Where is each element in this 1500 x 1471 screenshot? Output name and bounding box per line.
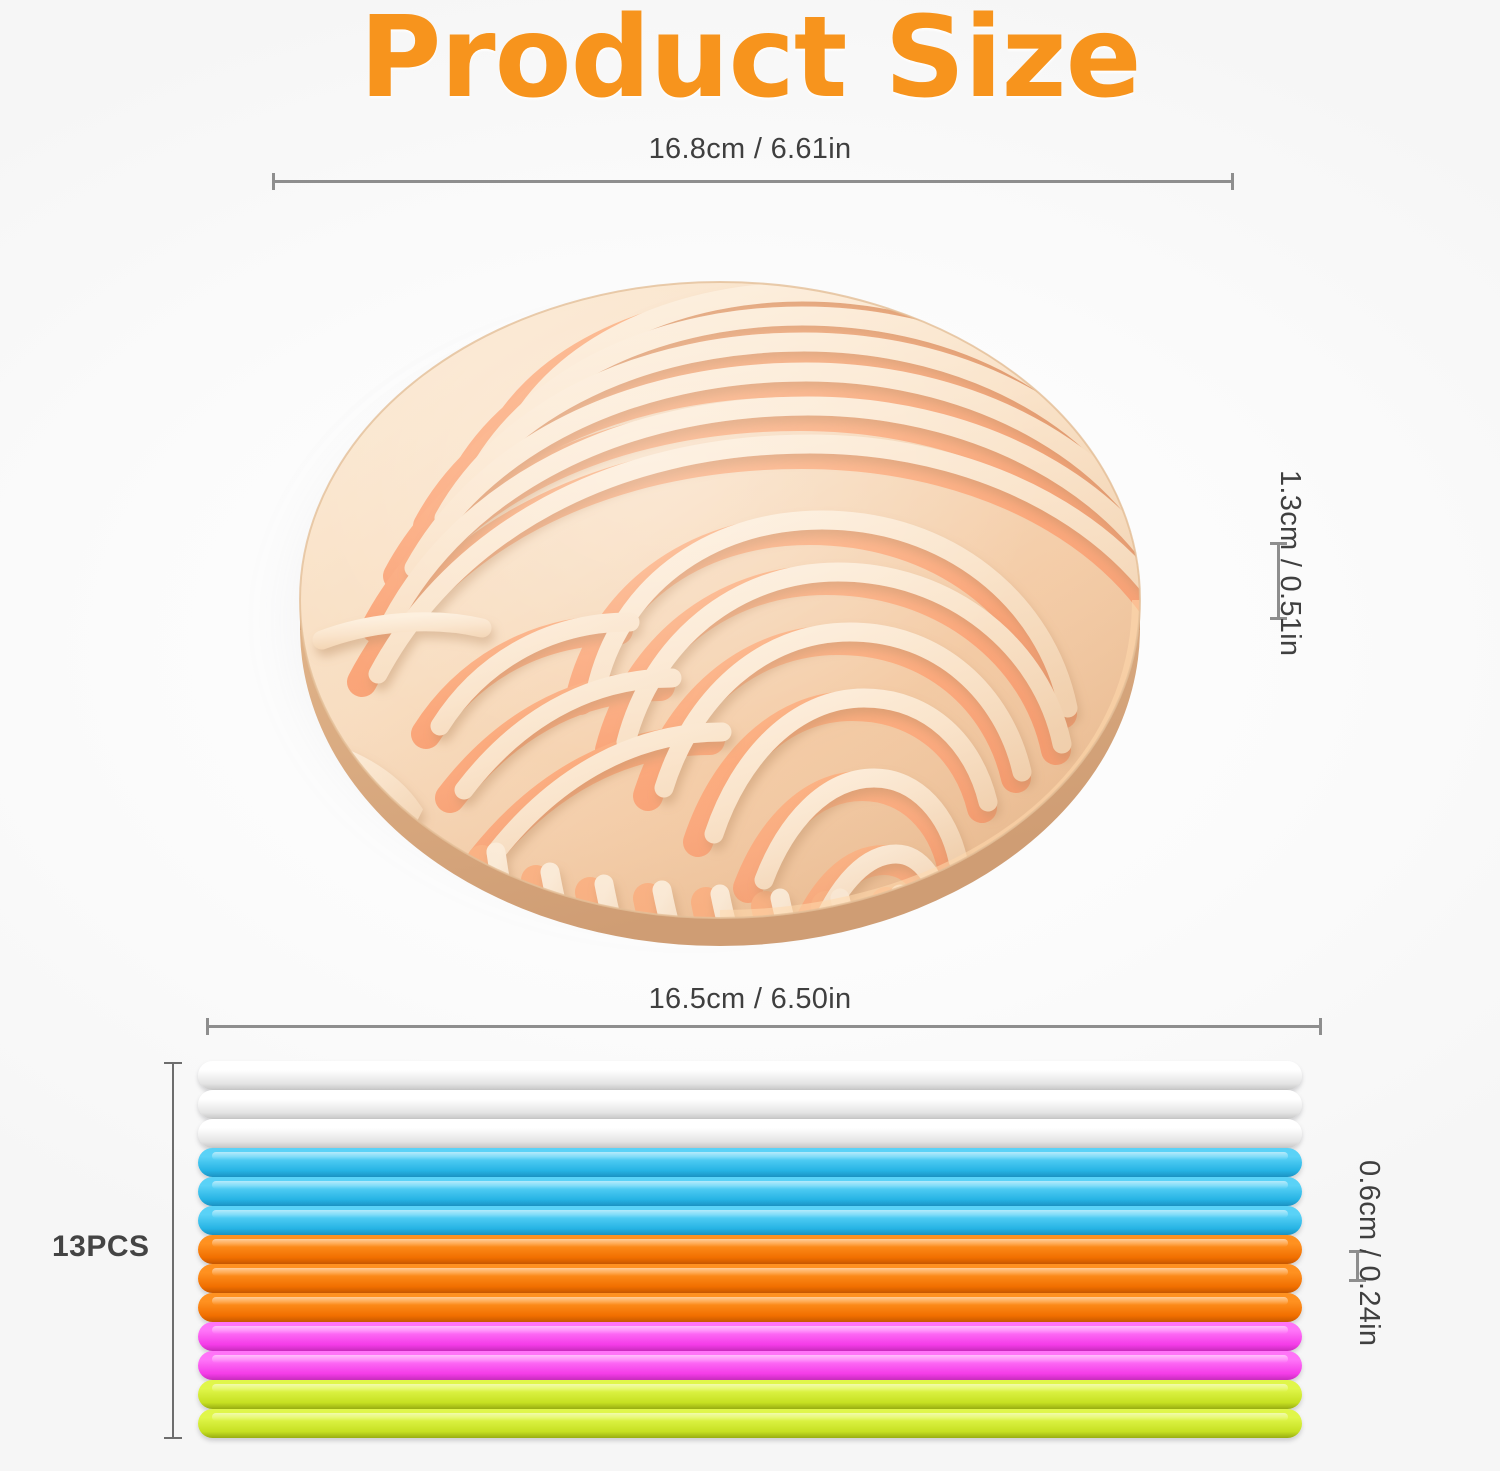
quantity-label: 13PCS	[52, 1230, 150, 1264]
stick-highlight	[212, 1297, 1288, 1305]
stick-white-3	[198, 1119, 1302, 1148]
stick-highlight	[212, 1123, 1288, 1131]
disc-width-dimension-label: 16.8cm / 6.61in	[0, 133, 1500, 166]
stick-highlight	[212, 1152, 1288, 1160]
stick-blue-4	[198, 1148, 1302, 1177]
disc-width-dimension-line	[272, 180, 1234, 183]
stick-magenta-11	[198, 1351, 1302, 1380]
stick-highlight	[212, 1384, 1288, 1392]
stick-blue-6	[198, 1206, 1302, 1235]
stick-orange-8	[198, 1264, 1302, 1293]
page-title: Product Size	[0, 0, 1500, 118]
stick-highlight	[212, 1355, 1288, 1363]
stick-blue-5	[198, 1177, 1302, 1206]
stick-highlight	[212, 1268, 1288, 1276]
stick-highlight	[212, 1326, 1288, 1334]
stick-length-dimension-label: 16.5cm / 6.50in	[0, 983, 1500, 1016]
fingerprint-maze-disc-graphic	[250, 230, 1250, 970]
stick-highlight	[212, 1094, 1288, 1102]
stick-yellow-green-13	[198, 1409, 1302, 1438]
stick-thickness-dimension-label: 0.6cm / 0.24in	[1352, 1160, 1385, 1346]
stick-highlight	[212, 1210, 1288, 1218]
stick-length-dimension-line	[206, 1025, 1322, 1028]
stick-highlight	[212, 1065, 1288, 1073]
quantity-bracket-line	[172, 1062, 174, 1439]
maze-disc	[250, 230, 1250, 970]
stick-yellow-green-12	[198, 1380, 1302, 1409]
stick-white-2	[198, 1090, 1302, 1119]
stick-highlight	[212, 1413, 1288, 1421]
stick-magenta-10	[198, 1322, 1302, 1351]
silicone-stick-stack	[198, 1061, 1302, 1439]
stick-orange-9	[198, 1293, 1302, 1322]
disc-thickness-dimension-label: 1.3cm / 0.51in	[1273, 470, 1306, 656]
stick-white-1	[198, 1061, 1302, 1090]
stick-highlight	[212, 1181, 1288, 1189]
stick-highlight	[212, 1239, 1288, 1247]
stick-orange-7	[198, 1235, 1302, 1264]
product-size-infographic: Product Size 16.8cm / 6.61in	[0, 0, 1500, 1471]
